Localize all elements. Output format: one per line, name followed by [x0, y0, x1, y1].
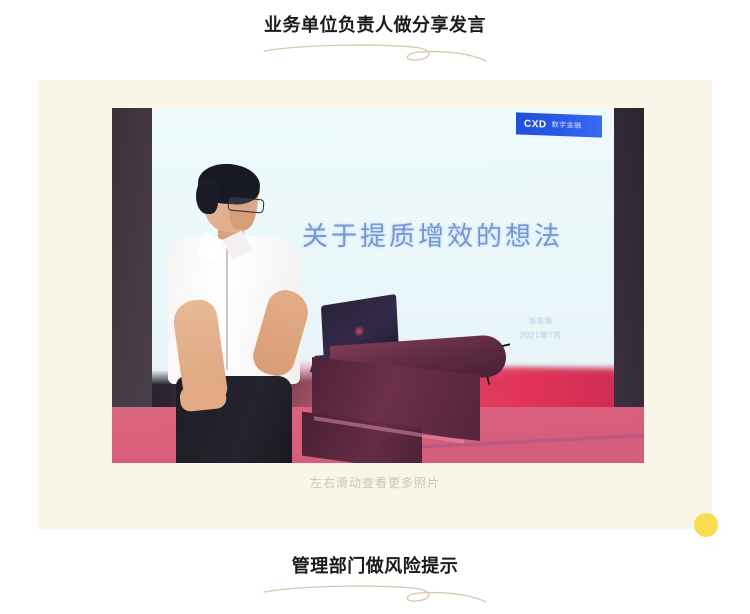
photo-composition: CXD 数字金融 关于提质增效的想法 张志刚 2021年7月: [112, 108, 644, 463]
laptop-logo-icon: [354, 325, 364, 337]
screen-logo-subtext: 数字金融: [552, 120, 582, 131]
slide-title-text: 关于提质增效的想法: [302, 216, 563, 253]
page-title: 业务单位负责人做分享发言: [0, 12, 750, 38]
screen-logo-banner: CXD 数字金融: [516, 112, 602, 137]
slide-byline-name: 张志刚: [520, 316, 562, 326]
screen-logo-mark: CXD: [524, 118, 547, 130]
slide-byline: 张志刚 2021年7月: [520, 316, 562, 341]
gallery-caption: 左右滑动查看更多照片: [38, 474, 712, 491]
gallery-photo[interactable]: CXD 数字金融 关于提质增效的想法 张志刚 2021年7月: [112, 108, 644, 463]
podium: [308, 316, 508, 463]
section-heading-1: 业务单位负责人做分享发言: [0, 12, 750, 68]
page-root: 业务单位负责人做分享发言 CXD 数字金融 关于提质增效的想法 张志刚: [0, 0, 750, 614]
photo-card: CXD 数字金融 关于提质增效的想法 张志刚 2021年7月: [38, 80, 712, 529]
speaker-hair-side: [196, 178, 218, 214]
section-title-2: 管理部门做风险提示: [0, 553, 750, 579]
slide-byline-date: 2021年7月: [520, 330, 562, 341]
speaker-hand: [179, 382, 227, 413]
glasses-icon: [227, 196, 264, 213]
section-heading-2: 管理部门做风险提示: [0, 553, 750, 609]
speaker-figure: [156, 170, 316, 463]
flourish-divider-icon-2: [260, 583, 490, 609]
flourish-divider-icon: [260, 42, 490, 68]
yellow-dot-decor: [694, 513, 718, 537]
